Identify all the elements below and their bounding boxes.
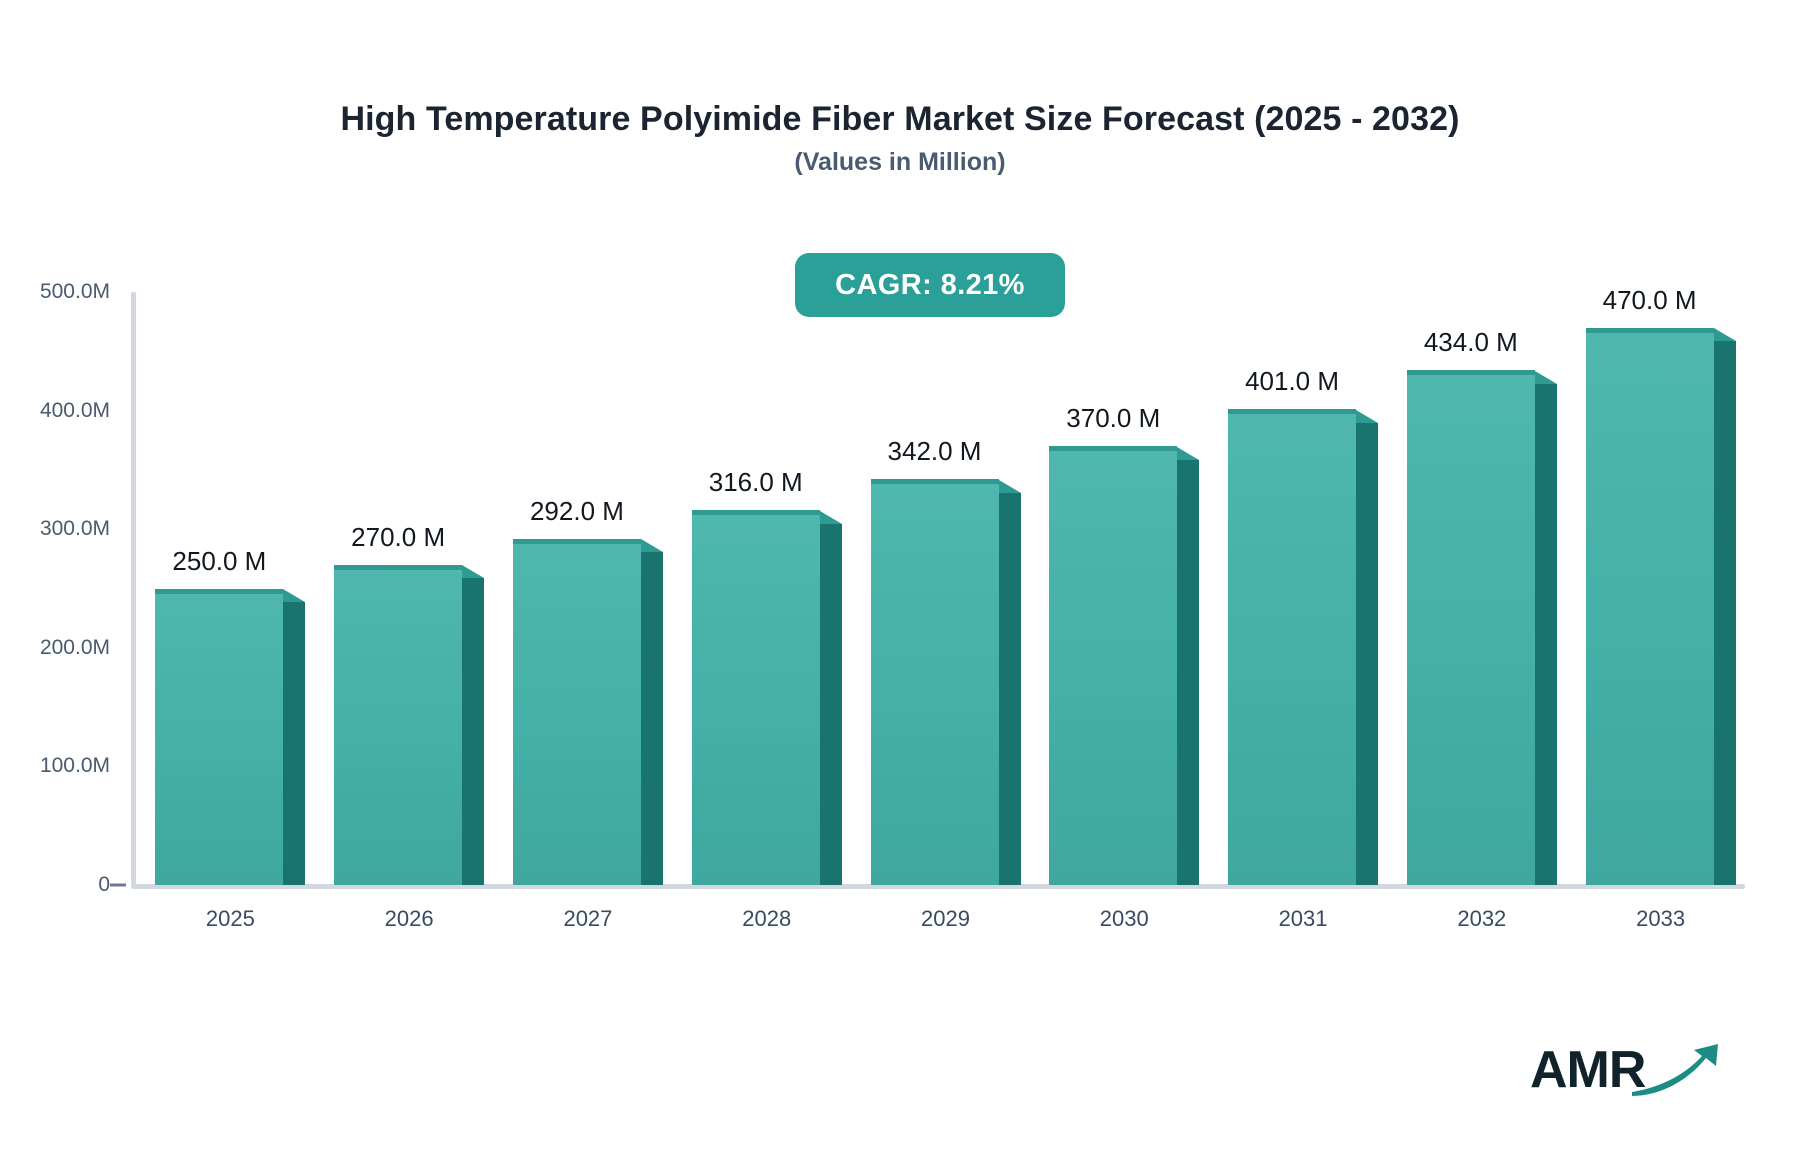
bar-top-face xyxy=(462,565,484,578)
amr-logo: AMR xyxy=(1530,1040,1730,1110)
bar-side-face xyxy=(283,602,305,885)
bar-value-label: 370.0 M xyxy=(1066,403,1160,434)
bar-2031[interactable]: 401.0 M xyxy=(1228,409,1356,885)
bar-top-edge xyxy=(1407,370,1535,375)
bar-2025[interactable]: 250.0 M xyxy=(155,589,283,886)
bar-top-face xyxy=(999,480,1021,493)
bar-value-label: 316.0 M xyxy=(709,467,803,498)
bar-top-edge xyxy=(1586,328,1714,333)
cagr-badge: CAGR: 8.21% xyxy=(795,253,1065,317)
bar-value-label: 470.0 M xyxy=(1603,285,1697,316)
bar-value-label: 434.0 M xyxy=(1424,327,1518,358)
x-axis-tick-label: 2026 xyxy=(385,906,434,932)
y-axis-tick-label: 0 xyxy=(0,873,110,897)
y-axis-tick-label: 100.0M xyxy=(0,754,110,778)
bar-2026[interactable]: 270.0 M xyxy=(334,565,462,885)
y-axis-tick-label: 300.0M xyxy=(0,517,110,541)
bar-side-face xyxy=(1535,384,1557,885)
chart-canvas: High Temperature Polyimide Fiber Market … xyxy=(0,0,1800,1156)
bar-front-face xyxy=(871,479,999,885)
bar-front-face xyxy=(155,589,283,886)
x-axis-tick-label: 2027 xyxy=(563,906,612,932)
bar-side-face xyxy=(641,552,663,885)
bar-front-face xyxy=(1228,409,1356,885)
bar-top-face xyxy=(1714,328,1736,341)
bar-front-face xyxy=(334,565,462,885)
bar-top-edge xyxy=(692,510,820,515)
bar-top-face xyxy=(641,539,663,552)
x-axis-tick-label: 2030 xyxy=(1100,906,1149,932)
bar-2027[interactable]: 292.0 M xyxy=(513,539,641,885)
x-axis-tick-label: 2031 xyxy=(1279,906,1328,932)
bar-front-face xyxy=(692,510,820,885)
bar-2033[interactable]: 470.0 M xyxy=(1586,328,1714,885)
y-axis-tick-label: 200.0M xyxy=(0,636,110,660)
bar-top-edge xyxy=(871,479,999,484)
bar-top-face xyxy=(283,589,305,602)
y-axis-tick-label: 400.0M xyxy=(0,399,110,423)
bar-value-label: 292.0 M xyxy=(530,496,624,527)
bar-side-face xyxy=(462,578,484,885)
x-axis-tick-label: 2025 xyxy=(206,906,255,932)
bar-2028[interactable]: 316.0 M xyxy=(692,510,820,885)
bar-side-face xyxy=(999,493,1021,885)
bar-2030[interactable]: 370.0 M xyxy=(1049,446,1177,885)
y-axis-line xyxy=(131,292,136,885)
plot-area: 0100.0M200.0M300.0M400.0M500.0M 250.0 M2… xyxy=(0,0,1800,1156)
bar-side-face xyxy=(820,524,842,885)
y-axis-tick-label: 500.0M xyxy=(0,280,110,304)
bar-2029[interactable]: 342.0 M xyxy=(871,479,999,885)
x-axis-tick-label: 2032 xyxy=(1457,906,1506,932)
bar-side-face xyxy=(1714,341,1736,885)
bar-front-face xyxy=(1049,446,1177,885)
bar-value-label: 250.0 M xyxy=(172,546,266,577)
bar-side-face xyxy=(1177,460,1199,885)
bar-front-face xyxy=(1407,370,1535,885)
bar-front-face xyxy=(513,539,641,885)
bar-top-face xyxy=(820,511,842,524)
bar-value-label: 401.0 M xyxy=(1245,366,1339,397)
bar-side-face xyxy=(1356,423,1378,885)
bar-value-label: 342.0 M xyxy=(888,436,982,467)
x-axis-tick-label: 2028 xyxy=(742,906,791,932)
x-axis-tick-label: 2029 xyxy=(921,906,970,932)
x-axis-tick-label: 2033 xyxy=(1636,906,1685,932)
growth-arrow-icon xyxy=(1630,1044,1730,1104)
bar-top-edge xyxy=(155,589,283,594)
bar-2032[interactable]: 434.0 M xyxy=(1407,370,1535,885)
y-axis-tick-mark xyxy=(110,884,126,887)
bar-value-label: 270.0 M xyxy=(351,522,445,553)
logo-wordmark: AMR xyxy=(1530,1040,1645,1100)
bar-top-edge xyxy=(1049,446,1177,451)
bar-top-face xyxy=(1177,447,1199,460)
bar-top-edge xyxy=(334,565,462,570)
bar-top-edge xyxy=(1228,409,1356,414)
bar-top-edge xyxy=(513,539,641,544)
bar-front-face xyxy=(1586,328,1714,885)
bar-top-face xyxy=(1356,410,1378,423)
bar-top-face xyxy=(1535,371,1557,384)
